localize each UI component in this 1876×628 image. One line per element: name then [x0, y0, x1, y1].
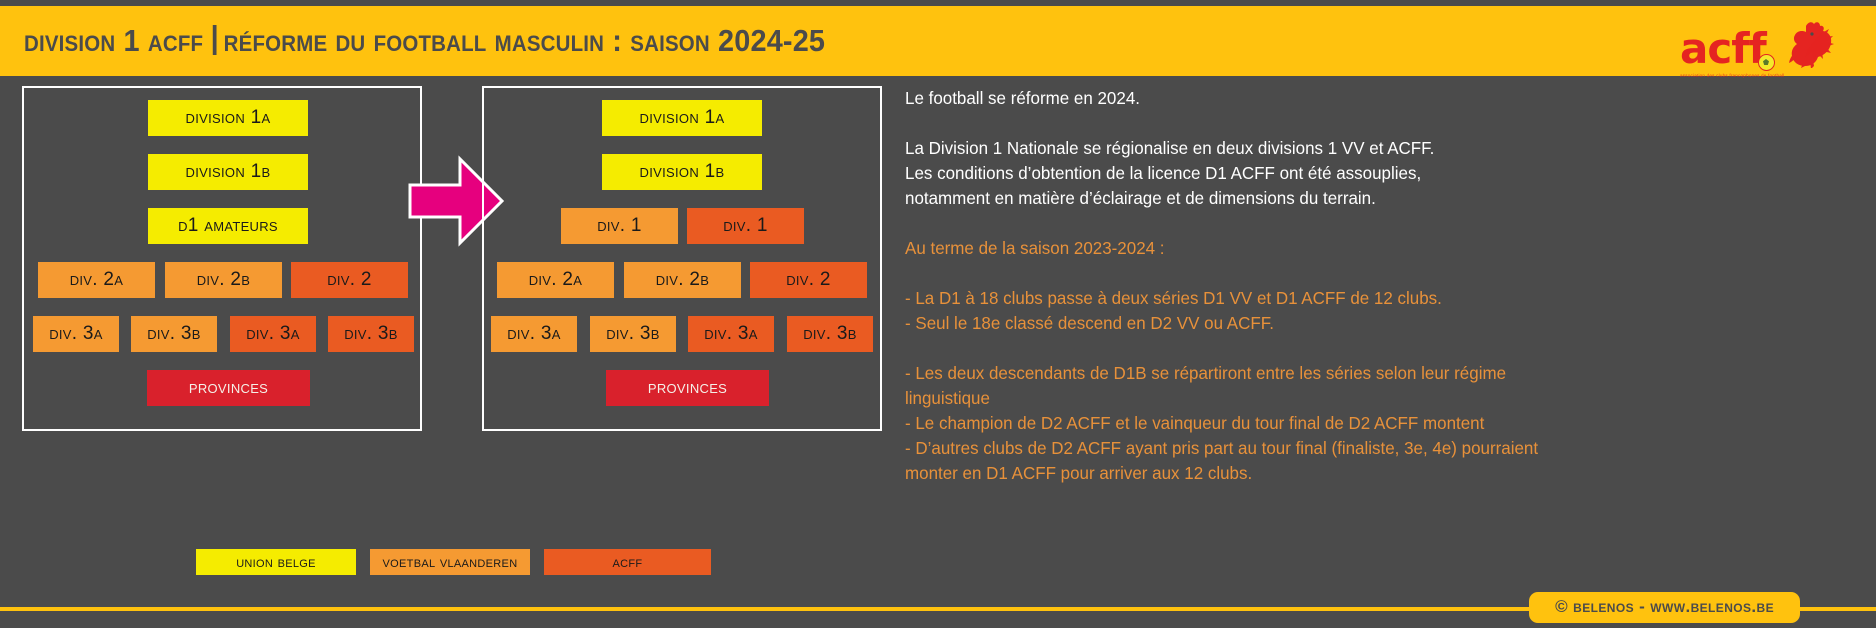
legend: Union Belge Voetbal Vlaanderen ACFF — [196, 549, 711, 575]
page-title: Division 1 ACFFRéforme du football mascu… — [24, 23, 825, 59]
header-banner: Division 1 ACFFRéforme du football mascu… — [0, 6, 1876, 76]
box-division-1b-before[interactable]: Division 1B — [148, 154, 308, 190]
box-provinces-before[interactable]: Provinces — [147, 370, 310, 406]
text-bullet-4: - Le champion de D2 ACFF et le vainqueur… — [905, 411, 1584, 436]
box-division-1a-after[interactable]: Division 1A — [602, 100, 762, 136]
box-d1-amateurs-before[interactable]: D1 Amateurs — [148, 208, 308, 244]
acff-logo: acff association des clubs francophones … — [1672, 14, 1862, 76]
box-div-2b-vv-after[interactable]: Div. 2B — [624, 262, 741, 298]
box-provinces-after[interactable]: Provinces — [606, 370, 769, 406]
page-title-right: Réforme du football masculin : saison 20… — [224, 23, 825, 58]
box-div-2a-vv-after[interactable]: Div. 2A — [497, 262, 614, 298]
legend-item-voetbal-vlaanderen[interactable]: Voetbal Vlaanderen — [370, 549, 530, 575]
title-separator — [213, 25, 217, 55]
footer-credit[interactable]: © Belenos - www.belenos.be — [1529, 592, 1800, 623]
acff-wordmark: acff — [1680, 28, 1766, 70]
box-div-2-acff-before[interactable]: Div. 2 — [291, 262, 408, 298]
box-div-2-acff-after[interactable]: Div. 2 — [750, 262, 867, 298]
spacer — [905, 261, 1584, 286]
box-division-1a-before[interactable]: Division 1A — [148, 100, 308, 136]
box-div-3a-vv-after[interactable]: Div. 3A — [491, 316, 577, 352]
text-para2-line1: La Division 1 Nationale se régionalise e… — [905, 136, 1584, 161]
spacer — [905, 211, 1584, 236]
box-div-3a-acff-before[interactable]: Div. 3A — [230, 316, 316, 352]
legend-item-union-belge[interactable]: Union Belge — [196, 549, 356, 575]
box-div-1-acff-after[interactable]: Div. 1 — [687, 208, 804, 244]
rooster-icon — [1776, 20, 1836, 68]
page-title-left: Division 1 ACFF — [24, 23, 203, 58]
text-bullet-5: - D’autres clubs de D2 ACFF ayant pris p… — [905, 436, 1565, 486]
text-bullet-2: - Seul le 18e classé descend en D2 VV ou… — [905, 311, 1584, 336]
box-div-3b-vv-after[interactable]: Div. 3B — [590, 316, 676, 352]
box-div-3a-vv-before[interactable]: Div. 3A — [33, 316, 119, 352]
legend-item-acff[interactable]: ACFF — [544, 549, 711, 575]
description-text: Le football se réforme en 2024. La Divis… — [905, 86, 1584, 486]
acff-logo-subtitle: association des clubs francophones de fo… — [1680, 73, 1784, 78]
box-div-3b-acff-before[interactable]: Div. 3B — [328, 316, 414, 352]
box-div-1-vv-after[interactable]: Div. 1 — [561, 208, 678, 244]
box-division-1b-after[interactable]: Division 1B — [602, 154, 762, 190]
text-bullet-3: - Les deux descendants de D1B se réparti… — [905, 361, 1565, 411]
text-heading: Au terme de la saison 2023-2024 : — [905, 236, 1584, 261]
box-div-3b-acff-after[interactable]: Div. 3B — [787, 316, 873, 352]
spacer — [905, 336, 1584, 361]
text-bullet-1: - La D1 à 18 clubs passe à deux séries D… — [905, 286, 1584, 311]
football-icon — [1758, 54, 1775, 71]
text-para2-line2: Les conditions d’obtention de la licence… — [905, 161, 1584, 186]
text-para2-line3: notamment en matière d’éclairage et de d… — [905, 186, 1584, 211]
box-div-2b-vv-before[interactable]: Div. 2B — [165, 262, 282, 298]
spacer — [905, 111, 1584, 136]
box-div-2a-vv-before[interactable]: Div. 2A — [38, 262, 155, 298]
box-div-3a-acff-after[interactable]: Div. 3A — [688, 316, 774, 352]
text-intro: Le football se réforme en 2024. — [905, 86, 1584, 111]
box-div-3b-vv-before[interactable]: Div. 3B — [131, 316, 217, 352]
